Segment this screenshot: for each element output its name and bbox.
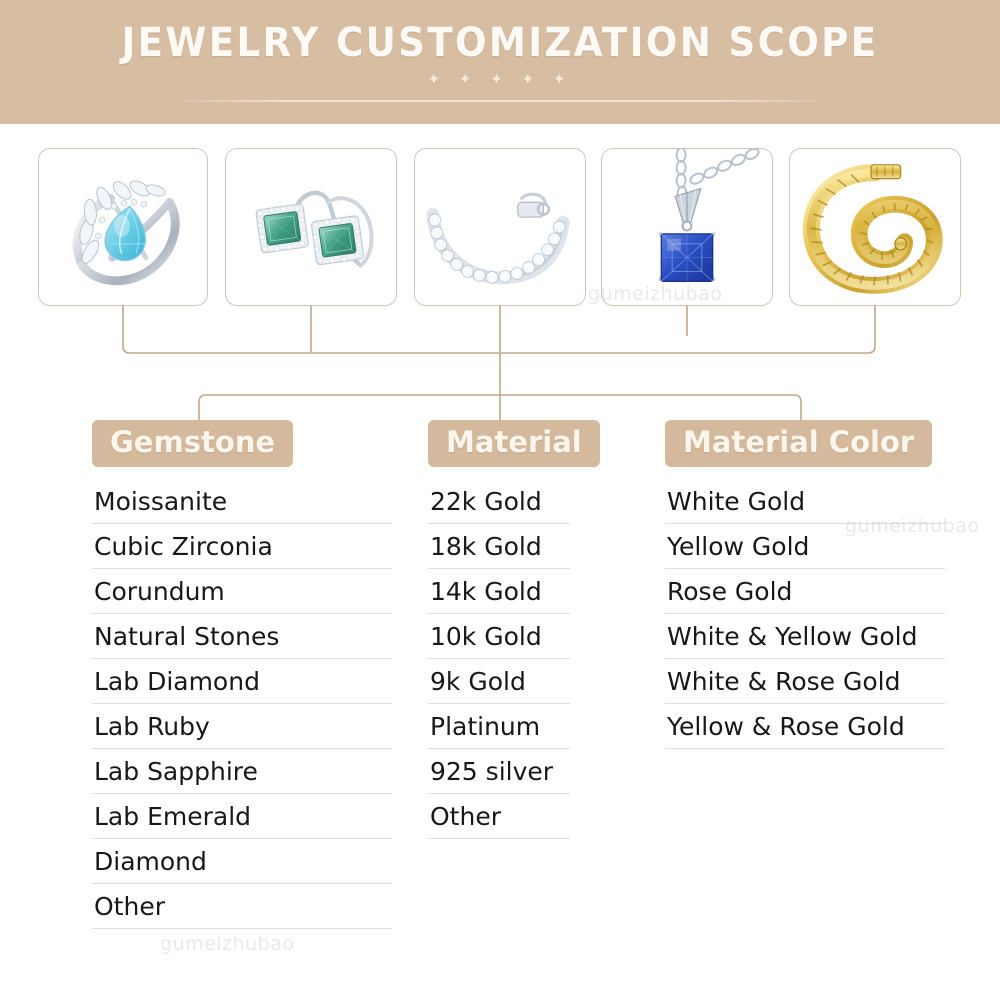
earrings-image — [226, 149, 396, 305]
product-card-pendant[interactable] — [601, 148, 773, 306]
list-item[interactable]: Platinum — [428, 704, 570, 749]
list-item[interactable]: Moissanite — [92, 479, 392, 524]
product-card-ring[interactable] — [38, 148, 208, 306]
list-item[interactable]: Yellow Gold — [665, 524, 945, 569]
star-divider-icon: ✦ ✦ ✦ ✦ ✦ — [0, 72, 1000, 87]
list-item[interactable]: White & Rose Gold — [665, 659, 945, 704]
product-card-chain[interactable] — [789, 148, 961, 306]
infographic-page: JEWELRY CUSTOMIZATION SCOPE ✦ ✦ ✦ ✦ ✦ — [0, 0, 1000, 1000]
page-header: JEWELRY CUSTOMIZATION SCOPE ✦ ✦ ✦ ✦ ✦ — [0, 0, 1000, 124]
list-item[interactable]: 14k Gold — [428, 569, 570, 614]
product-card-bracelet[interactable] — [414, 148, 586, 306]
list-item[interactable]: 925 silver — [428, 749, 570, 794]
list-item[interactable]: Lab Sapphire — [92, 749, 392, 794]
list-item[interactable]: Cubic Zirconia — [92, 524, 392, 569]
bracelet-image — [415, 149, 585, 305]
list-item[interactable]: White & Yellow Gold — [665, 614, 945, 659]
list-item[interactable]: Other — [92, 884, 392, 929]
list-item[interactable]: Other — [428, 794, 570, 839]
header-divider — [165, 100, 835, 102]
list-item[interactable]: 10k Gold — [428, 614, 570, 659]
option-list-material: 22k Gold 18k Gold 14k Gold 10k Gold 9k G… — [428, 479, 570, 839]
watermark: gumeizhubao — [160, 933, 294, 955]
list-item[interactable]: Diamond — [92, 839, 392, 884]
list-item[interactable]: 18k Gold — [428, 524, 570, 569]
option-list-material-color: White Gold Yellow Gold Rose Gold White &… — [665, 479, 945, 749]
option-list-gemstone: Moissanite Cubic Zirconia Corundum Natur… — [92, 479, 392, 929]
category-title-material-color: Material Color — [665, 420, 932, 467]
list-item[interactable]: Rose Gold — [665, 569, 945, 614]
category-column-material: Material 22k Gold 18k Gold 14k Gold 10k … — [428, 420, 658, 839]
gold-chain-image — [790, 149, 960, 305]
list-item[interactable]: 22k Gold — [428, 479, 570, 524]
list-item[interactable]: Yellow & Rose Gold — [665, 704, 945, 749]
list-item[interactable]: Lab Ruby — [92, 704, 392, 749]
pendant-image — [602, 149, 772, 305]
category-title-gemstone: Gemstone — [92, 420, 293, 467]
list-item[interactable]: Corundum — [92, 569, 392, 614]
category-column-gemstone: Gemstone Moissanite Cubic Zirconia Corun… — [92, 420, 392, 929]
product-card-row — [0, 148, 1000, 306]
category-column-material-color: Material Color White Gold Yellow Gold Ro… — [665, 420, 955, 749]
list-item[interactable]: Natural Stones — [92, 614, 392, 659]
page-title: JEWELRY CUSTOMIZATION SCOPE — [35, 20, 965, 66]
list-item[interactable]: 9k Gold — [428, 659, 570, 704]
product-card-earrings[interactable] — [225, 148, 397, 306]
category-title-material: Material — [428, 420, 600, 467]
ring-image — [39, 149, 207, 305]
connector-diagram — [0, 300, 1000, 430]
connector-lines — [0, 300, 1000, 430]
list-item[interactable]: Lab Diamond — [92, 659, 392, 704]
list-item[interactable]: Lab Emerald — [92, 794, 392, 839]
list-item[interactable]: White Gold — [665, 479, 945, 524]
